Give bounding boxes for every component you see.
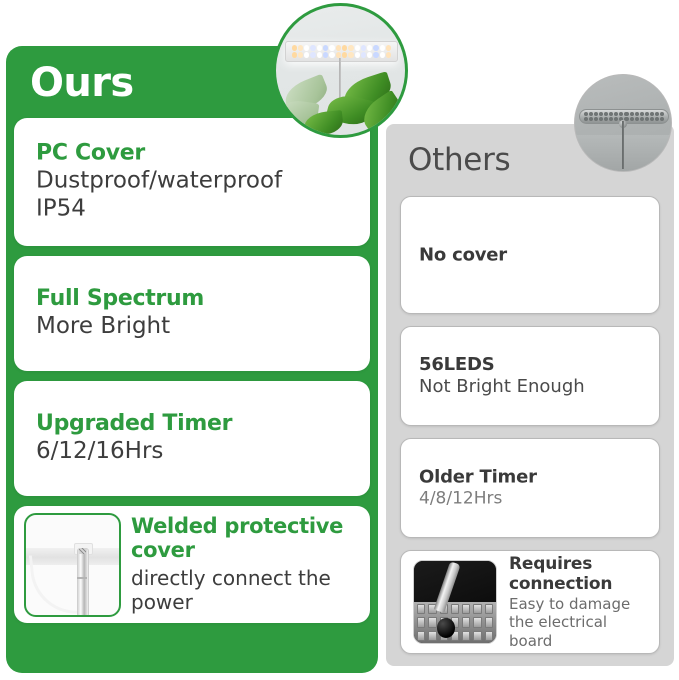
ours-card-heading: Welded protective cover <box>131 515 356 561</box>
others-card-heading: No cover <box>419 244 647 265</box>
led-panel-art <box>285 41 398 62</box>
ours-panel: Ours PC Cover Dustproof/waterproof IP54 … <box>6 46 378 673</box>
ours-feature-card-pc-cover: PC Cover Dustproof/waterproof IP54 <box>14 118 370 246</box>
ours-card-heading: Upgraded Timer <box>36 412 356 436</box>
welded-pole-connection-photo <box>24 513 121 617</box>
ours-card-heading: Full Spectrum <box>36 287 356 311</box>
led-grow-light-with-plants-photo <box>273 3 408 138</box>
others-card-subtext: Not Bright Enough <box>419 376 647 398</box>
others-card-heading: Older Timer <box>419 467 647 488</box>
others-feature-card-timer: Older Timer 4/8/12Hrs <box>400 438 660 538</box>
others-card-list: No cover 56LEDS Not Bright Enough Older … <box>400 196 660 656</box>
others-card-subtext: 4/8/12Hrs <box>419 489 647 510</box>
ours-card-subtext: More Bright <box>36 313 356 341</box>
ours-feature-card-welded-cover: Welded protective cover directly connect… <box>14 506 370 623</box>
others-feature-card-leds: 56LEDS Not Bright Enough <box>400 326 660 426</box>
others-panel: Others No cover 56LEDS Not Bright Enough… <box>386 124 674 666</box>
ours-card-list: PC Cover Dustproof/waterproof IP54 Full … <box>14 118 370 664</box>
ours-feature-card-upgraded-timer: Upgraded Timer 6/12/16Hrs <box>14 381 370 496</box>
screwdriver-on-circuit-board-photo <box>413 560 497 644</box>
ours-card-subtext: Dustproof/waterproof IP54 <box>36 168 356 223</box>
ours-card-heading: PC Cover <box>36 141 356 165</box>
ours-feature-card-full-spectrum: Full Spectrum More Bright <box>14 256 370 371</box>
ours-card-subtext: 6/12/16Hrs <box>36 438 356 466</box>
ours-card-subtext: directly connect the power <box>131 566 356 614</box>
others-feature-card-no-cover: No cover <box>400 196 660 314</box>
others-panel-title: Others <box>408 142 510 178</box>
competitor-led-light-grayscale-photo <box>574 74 672 172</box>
others-feature-card-connection: Requires connection Easy to damage the e… <box>400 550 660 654</box>
others-card-heading: Requires connection <box>509 554 647 594</box>
others-card-subtext: Easy to damage the electrical board <box>509 595 647 651</box>
others-card-heading: 56LEDS <box>419 354 647 375</box>
ours-panel-title: Ours <box>30 60 134 106</box>
